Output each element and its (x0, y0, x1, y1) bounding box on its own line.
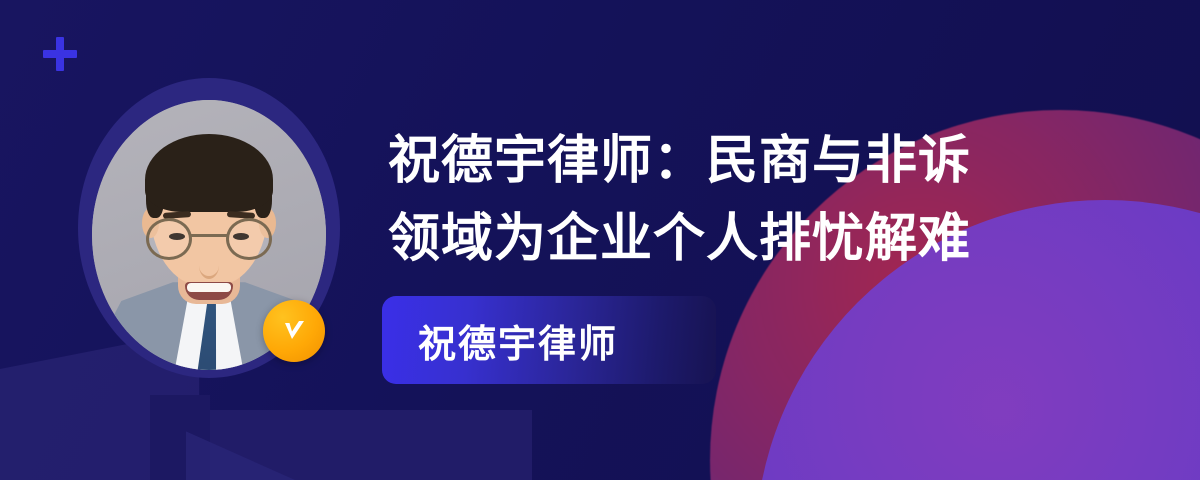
portrait-mouth (185, 282, 233, 300)
portrait-glasses-lens-left (146, 218, 192, 260)
portrait-nose (199, 252, 219, 279)
headline-line-2: 领域为企业个人排忧解难 (388, 200, 1088, 278)
portrait-glasses-lens-right (226, 218, 272, 260)
promo-banner: 祝德宇律师：民商与非诉 领域为企业个人排忧解难 祝德宇律师 (0, 0, 1200, 480)
headline-line-1: 祝德宇律师：民商与非诉 (388, 122, 1088, 200)
plus-icon (43, 37, 77, 71)
portrait-glasses-bridge (191, 234, 227, 237)
portrait-teeth (187, 283, 231, 292)
plus-icon-bar-vertical (56, 37, 64, 71)
page-title: 祝德宇律师：民商与非诉 领域为企业个人排忧解难 (388, 122, 1088, 278)
lawyer-name-button[interactable]: 祝德宇律师 (382, 296, 716, 384)
avatar (78, 78, 340, 378)
verified-check-icon (263, 300, 325, 362)
